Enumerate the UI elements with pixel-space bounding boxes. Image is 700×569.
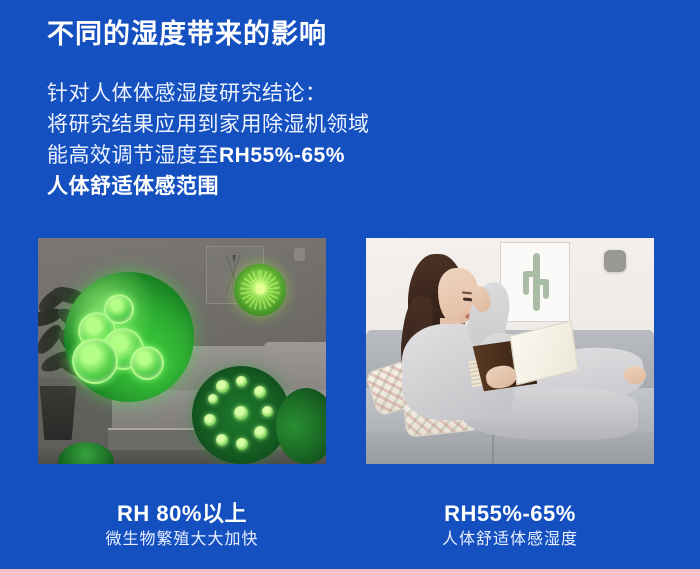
woman-foot (624, 366, 646, 384)
body-line-4: 人体舒适体感范围 (47, 171, 370, 202)
cactus-wall-art (500, 242, 570, 322)
microbe-cluster-large-icon (64, 272, 194, 402)
wall-switch-icon (294, 248, 305, 261)
microbe-spiky-icon (234, 264, 286, 316)
cactus-icon (523, 253, 549, 311)
caption-sub: 微生物繁殖大大加快 (38, 528, 326, 552)
sofa-seam (492, 434, 494, 464)
humidity-infographic-poster: 不同的湿度带来的影响 针对人体体感湿度研究结论： 将研究结果应用到家用除湿机领域… (0, 0, 700, 569)
photo-comfort-humidity (366, 238, 654, 464)
humidity-range-highlight: RH55%-65% (219, 144, 345, 167)
body-line-1: 针对人体体感湿度研究结论： (47, 78, 370, 109)
caption-main: RH55%-65% (366, 500, 654, 528)
caption-high-humidity: RH 80%以上 微生物繁殖大大加快 (38, 500, 326, 552)
microbe-dotted-icon (192, 366, 290, 464)
microbe-partial-bottom-icon (58, 442, 114, 464)
body-line-3-prefix: 能高效调节湿度至 (47, 144, 219, 167)
thermostat-icon (604, 250, 626, 272)
caption-main: RH 80%以上 (38, 500, 326, 528)
caption-comfort-humidity: RH55%-65% 人体舒适体感湿度 (366, 500, 654, 552)
caption-sub: 人体舒适体感湿度 (366, 528, 654, 552)
page-title: 不同的湿度带来的影响 (47, 17, 327, 51)
body-line-3: 能高效调节湿度至RH55%-65% (47, 140, 370, 171)
body-copy: 针对人体体感湿度研究结论： 将研究结果应用到家用除湿机领域 能高效调节湿度至RH… (47, 78, 370, 202)
bright-room-scene (366, 238, 654, 464)
photo-high-humidity (38, 238, 326, 464)
dim-room-scene (38, 238, 326, 464)
body-line-2: 将研究结果应用到家用除湿机领域 (47, 109, 370, 140)
